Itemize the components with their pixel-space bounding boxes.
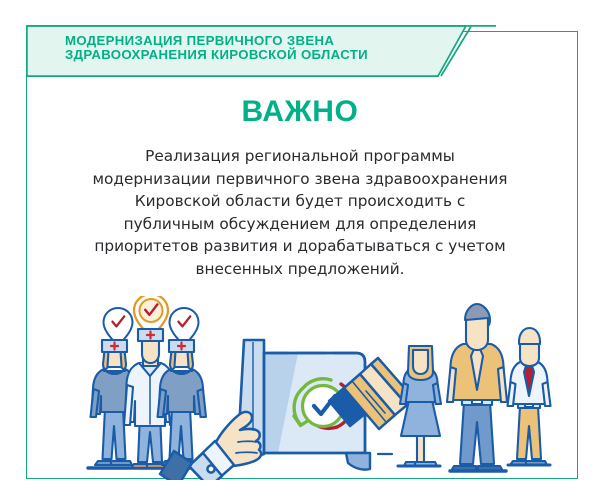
figure-man-with-tie (447, 304, 507, 471)
public-discussion-illustration (26, 296, 578, 480)
pin-inner-circle (140, 299, 163, 322)
poster-root: МОДЕРНИЗАЦИЯ ПЕРВИЧНОГО ЗВЕНА ЗДРАВООХРА… (0, 0, 600, 500)
header-banner: МОДЕРНИЗАЦИЯ ПЕРВИЧНОГО ЗВЕНА ЗДРАВООХРА… (26, 25, 496, 77)
figure-man-with-red-tie (508, 328, 551, 465)
document-bottom-tab (346, 453, 370, 470)
figure-nurse-right (158, 340, 207, 465)
banner-title: МОДЕРНИЗАЦИЯ ПЕРВИЧНОГО ЗВЕНА ЗДРАВООХРА… (65, 34, 455, 63)
medical-staff-group (88, 296, 212, 468)
body-paragraph: Реализация региональной программы модерн… (92, 145, 508, 281)
page-title: ВАЖНО (0, 96, 600, 128)
citizens-group (398, 304, 551, 471)
